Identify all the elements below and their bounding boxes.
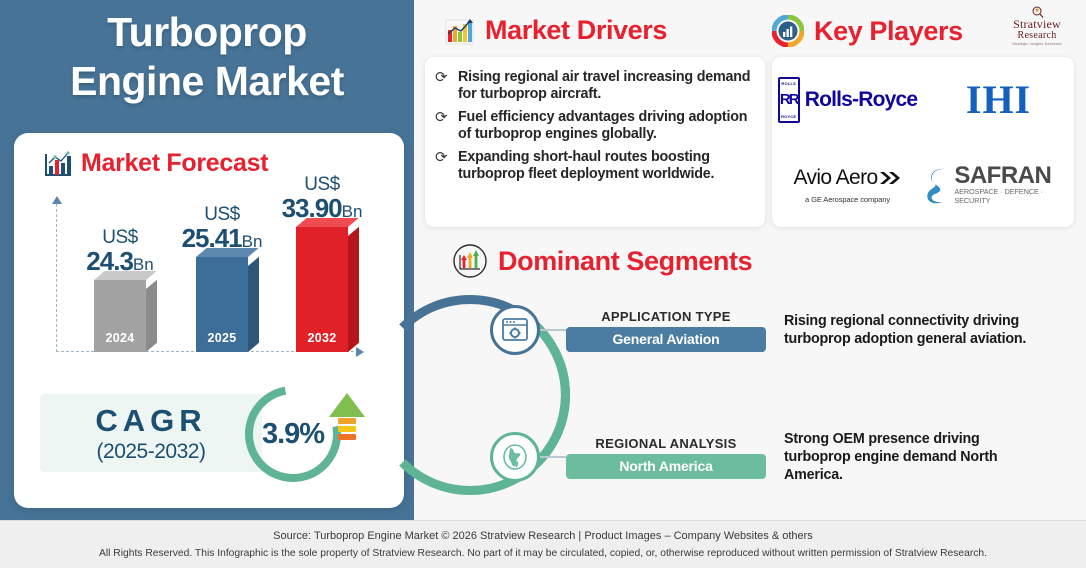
growth-up-arrow-icon xyxy=(329,393,365,453)
ihi-wordmark: IHI xyxy=(966,76,1031,123)
market-forecast-card: Market Forecast US$ 24.3Bn 2024 xyxy=(14,133,404,508)
cagr-period: (2025-2032) xyxy=(97,440,206,464)
stratview-research-logo: Stratview Research Strategic Insights De… xyxy=(998,6,1076,46)
segment-description: Rising regional connectivity driving tur… xyxy=(784,312,1052,348)
footer-rights: All Rights Reserved. This Infographic is… xyxy=(99,548,987,559)
avio-chevrons-icon xyxy=(880,170,902,186)
window-gear-icon xyxy=(490,305,540,355)
footer-source: Source: Turboprop Engine Market © 2026 S… xyxy=(273,530,813,542)
key-players-header: Key Players xyxy=(772,15,963,47)
x-axis-arrow-icon xyxy=(356,347,364,357)
title-line-2: Engine Market xyxy=(0,57,414,106)
market-drivers-header: Market Drivers xyxy=(443,15,667,46)
market-drivers-card: ⟳ Rising regional air travel increasing … xyxy=(425,57,765,227)
avio-aero-wordmark: Avio Aero xyxy=(793,166,877,190)
bar-2024: US$ 24.3Bn 2024 xyxy=(94,280,146,352)
segment-category: APPLICATION TYPE xyxy=(566,309,766,324)
footer: Source: Turboprop Engine Market © 2026 S… xyxy=(0,520,1086,568)
bar-2025: US$ 25.41Bn 2025 xyxy=(196,257,248,352)
stratview-logo-sub: Research xyxy=(998,30,1076,41)
driver-text: Fuel efficiency advantages driving adopt… xyxy=(458,109,753,143)
y-axis-arrow-icon xyxy=(52,196,62,204)
cagr-label: CAGR xyxy=(95,403,206,439)
circular-arrow-bullet-icon: ⟳ xyxy=(435,149,450,167)
segment-connector xyxy=(540,329,566,331)
safran-tagline: AEROSPACE · DEFENCE · SECURITY xyxy=(954,187,1074,205)
logo-ihi: IHI xyxy=(923,57,1074,142)
logo-rolls-royce: ROLLS RR ROYCE Rolls-Royce xyxy=(772,57,923,142)
globe-americas-icon xyxy=(490,432,540,482)
bar-2025-year: 2025 xyxy=(196,331,248,345)
logo-safran: SAFRAN AEROSPACE · DEFENCE · SECURITY xyxy=(923,142,1074,227)
bar-2024-side xyxy=(146,280,157,352)
market-forecast-header: Market Forecast xyxy=(44,149,268,178)
bar-2032-top xyxy=(296,218,359,227)
rr-badge-mono: RR xyxy=(780,94,798,106)
segment-value-pill: North America xyxy=(566,454,766,479)
rr-badge-top: ROLLS xyxy=(781,81,796,86)
driver-item: ⟳ Expanding short-haul routes boosting t… xyxy=(435,149,753,183)
bar-chart-trend-icon xyxy=(443,16,475,46)
segment-row-regional-analysis: REGIONAL ANALYSIS North America Strong O… xyxy=(490,430,1032,484)
bar-2025-side xyxy=(248,257,259,352)
bar-2024-year: 2024 xyxy=(94,331,146,345)
dominant-segments-title: Dominant Segments xyxy=(498,246,752,277)
segment-description: Strong OEM presence driving turboprop en… xyxy=(784,430,1032,484)
cagr-block: CAGR (2025-2032) 3.9% xyxy=(40,386,380,486)
cagr-box: CAGR (2025-2032) xyxy=(40,394,262,472)
bar-chart-line-icon xyxy=(44,150,72,178)
bar-2032: US$ 33.90Bn 2032 xyxy=(296,227,348,352)
safran-wordmark: SAFRAN xyxy=(954,164,1074,187)
avio-aero-tagline: a GE Aerospace company xyxy=(805,195,890,204)
market-drivers-title: Market Drivers xyxy=(485,15,667,46)
driver-item: ⟳ Fuel efficiency advantages driving ado… xyxy=(435,109,753,143)
rr-badge-bottom: ROYCE xyxy=(781,114,796,119)
segment-value-pill: General Aviation xyxy=(566,327,766,352)
donut-chart-icon xyxy=(772,15,804,47)
three-arrows-circle-icon xyxy=(452,243,488,279)
page-title: Turboprop Engine Market xyxy=(0,8,414,106)
safran-symbol-icon xyxy=(923,163,951,207)
market-forecast-title: Market Forecast xyxy=(81,149,268,178)
bar-2024-top xyxy=(94,271,157,280)
y-axis xyxy=(56,204,57,352)
segment-row-application-type: APPLICATION TYPE General Aviation Rising… xyxy=(490,305,1052,355)
forecast-bar-chart: US$ 24.3Bn 2024 US$ 25.41Bn 2025 xyxy=(48,197,378,362)
logo-avio-aero: Avio Aero a GE Aerospace company xyxy=(772,142,923,227)
driver-text: Rising regional air travel increasing de… xyxy=(458,69,753,103)
driver-item: ⟳ Rising regional air travel increasing … xyxy=(435,69,753,103)
circular-arrow-bullet-icon: ⟳ xyxy=(435,69,450,87)
driver-text: Expanding short-haul routes boosting tur… xyxy=(458,149,753,183)
bar-2032-side xyxy=(348,227,359,352)
cagr-value: 3.9% xyxy=(245,386,341,482)
segment-label-group: REGIONAL ANALYSIS North America xyxy=(566,436,766,479)
infographic-root: Turboprop Engine Market Market Forecast xyxy=(0,0,1086,568)
bar-2032-year: 2032 xyxy=(296,331,348,345)
segment-connector xyxy=(540,456,566,458)
bar-2025-top xyxy=(196,248,259,257)
title-line-1: Turboprop xyxy=(0,8,414,57)
key-players-title: Key Players xyxy=(814,16,963,47)
segment-category: REGIONAL ANALYSIS xyxy=(566,436,766,451)
rolls-royce-badge-icon: ROLLS RR ROYCE xyxy=(778,77,800,123)
circular-arrow-bullet-icon: ⟳ xyxy=(435,109,450,127)
bar-2032-label: US$ 33.90Bn xyxy=(247,175,397,222)
segment-label-group: APPLICATION TYPE General Aviation xyxy=(566,309,766,352)
rolls-royce-wordmark: Rolls-Royce xyxy=(805,88,918,112)
dominant-segments-header: Dominant Segments xyxy=(452,243,752,279)
bar-2032-currency: US$ xyxy=(247,175,397,195)
stratview-logo-tagline: Strategic Insights Delivered xyxy=(998,42,1076,46)
key-players-card: ROLLS RR ROYCE Rolls-Royce IHI Avio Aero… xyxy=(772,57,1074,227)
